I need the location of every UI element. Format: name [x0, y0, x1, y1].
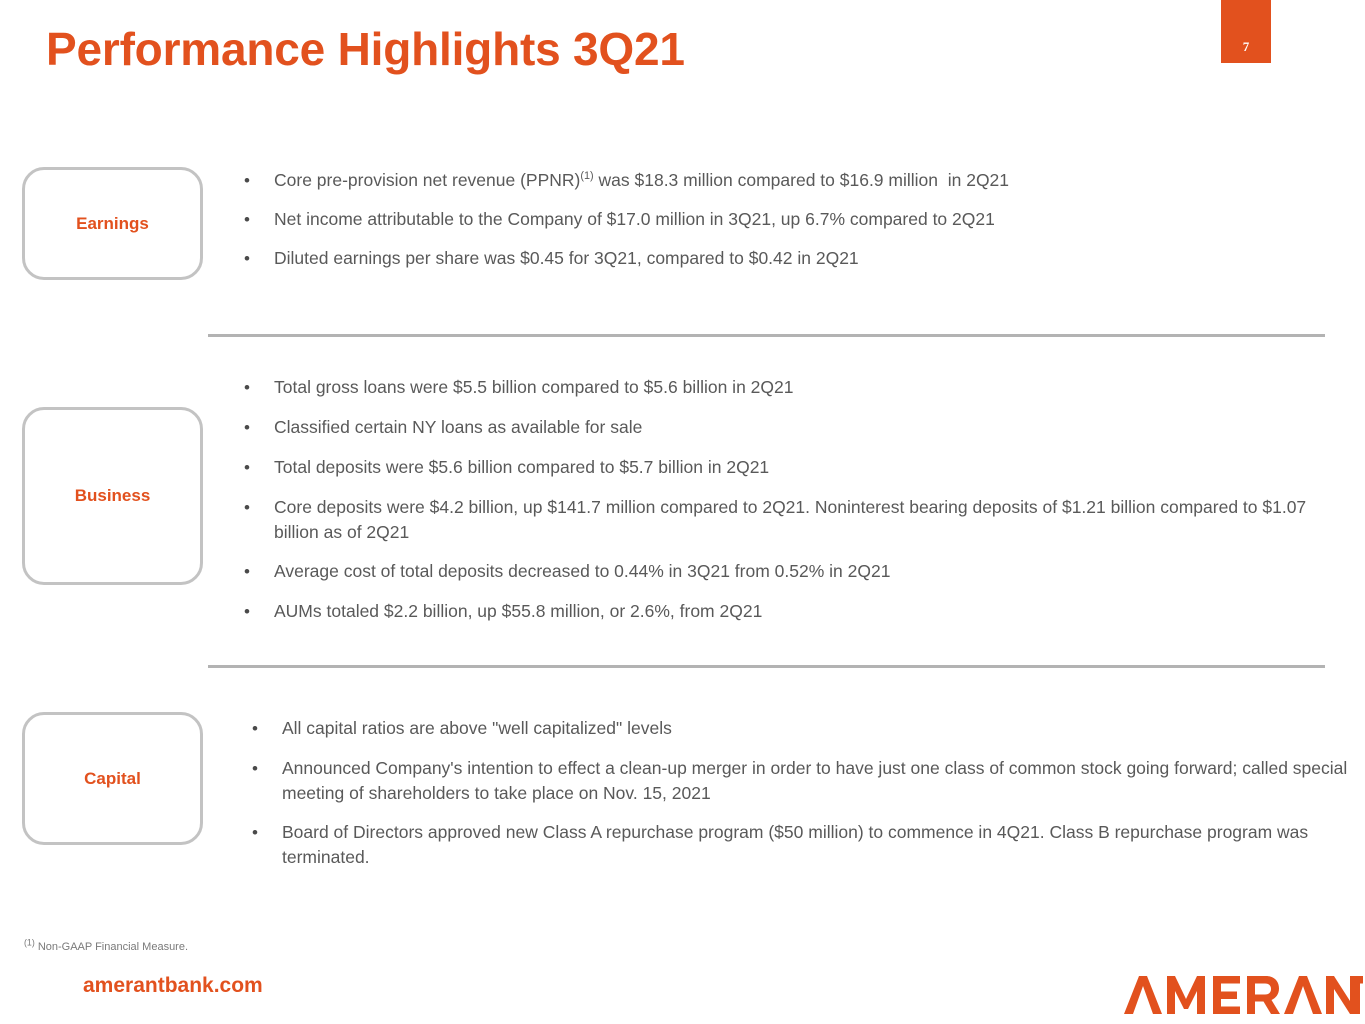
bullet-list-capital: • All capital ratios are above "well cap… — [246, 716, 1361, 884]
footer-website-link[interactable]: amerantbank.com — [83, 974, 263, 998]
bullet-dot-icon: • — [238, 599, 274, 625]
list-item: • Diluted earnings per share was $0.45 f… — [238, 246, 1348, 272]
list-item: • AUMs totaled $2.2 billion, up $55.8 mi… — [238, 599, 1348, 625]
bullet-text: Diluted earnings per share was $0.45 for… — [274, 246, 1348, 271]
list-item: • Core pre-provision net revenue (PPNR)(… — [238, 168, 1348, 194]
footnote-ref-superscript: (1) — [580, 170, 593, 182]
page-title: Performance Highlights 3Q21 — [46, 22, 685, 76]
bullet-text: Core deposits were $4.2 billion, up $141… — [274, 495, 1348, 545]
bullet-dot-icon: • — [246, 716, 282, 742]
page-number-badge: 7 — [1221, 0, 1271, 63]
bullet-dot-icon: • — [238, 455, 274, 481]
list-item: • Core deposits were $4.2 billion, up $1… — [238, 495, 1348, 545]
bullet-text: Total gross loans were $5.5 billion comp… — [274, 375, 1348, 400]
section-label-text: Business — [75, 486, 151, 506]
list-item: • Average cost of total deposits decreas… — [238, 559, 1348, 585]
page-number-text: 7 — [1221, 39, 1271, 55]
section-label-earnings: Earnings — [22, 167, 203, 280]
list-item: • Announced Company's intention to effec… — [246, 756, 1361, 806]
bullet-text: Core pre-provision net revenue (PPNR)(1)… — [274, 168, 1348, 193]
bullet-dot-icon: • — [246, 820, 282, 846]
list-item: • Classified certain NY loans as availab… — [238, 415, 1348, 441]
list-item: • Total gross loans were $5.5 billion co… — [238, 375, 1348, 401]
bullet-dot-icon: • — [238, 168, 274, 194]
bullet-text: Announced Company's intention to effect … — [282, 756, 1361, 806]
amerant-logo-icon — [1123, 972, 1363, 1018]
section-divider — [208, 334, 1325, 337]
footnote-text: Non-GAAP Financial Measure. — [35, 941, 188, 953]
section-label-business: Business — [22, 407, 203, 585]
bullet-text: Net income attributable to the Company o… — [274, 207, 1348, 232]
bullet-text-post: was $18.3 million compared to $16.9 mill… — [594, 170, 1009, 190]
list-item: • Net income attributable to the Company… — [238, 207, 1348, 233]
bullet-dot-icon: • — [238, 559, 274, 585]
bullet-list-business: • Total gross loans were $5.5 billion co… — [238, 375, 1348, 639]
section-label-text: Capital — [84, 769, 141, 789]
bullet-dot-icon: • — [238, 207, 274, 233]
bullet-text: Average cost of total deposits decreased… — [274, 559, 1348, 584]
section-label-text: Earnings — [76, 214, 149, 234]
list-item: • Total deposits were $5.6 billion compa… — [238, 455, 1348, 481]
bullet-list-earnings: • Core pre-provision net revenue (PPNR)(… — [238, 168, 1348, 285]
bullet-text-pre: Core pre-provision net revenue (PPNR) — [274, 170, 580, 190]
bullet-text: All capital ratios are above "well capit… — [282, 716, 1361, 741]
bullet-dot-icon: • — [238, 495, 274, 521]
bullet-text: Board of Directors approved new Class A … — [282, 820, 1361, 870]
bullet-text: Classified certain NY loans as available… — [274, 415, 1348, 440]
section-label-capital: Capital — [22, 712, 203, 845]
section-divider — [208, 665, 1325, 668]
footnote-marker: (1) — [24, 937, 35, 947]
bullet-text: AUMs totaled $2.2 billion, up $55.8 mill… — [274, 599, 1348, 624]
bullet-text: Total deposits were $5.6 billion compare… — [274, 455, 1348, 480]
list-item: • Board of Directors approved new Class … — [246, 820, 1361, 870]
footnote: (1) Non-GAAP Financial Measure. — [24, 941, 188, 953]
amerant-logo — [1123, 972, 1363, 1018]
list-item: • All capital ratios are above "well cap… — [246, 716, 1361, 742]
bullet-dot-icon: • — [246, 756, 282, 782]
bullet-dot-icon: • — [238, 246, 274, 272]
bullet-dot-icon: • — [238, 415, 274, 441]
bullet-dot-icon: • — [238, 375, 274, 401]
